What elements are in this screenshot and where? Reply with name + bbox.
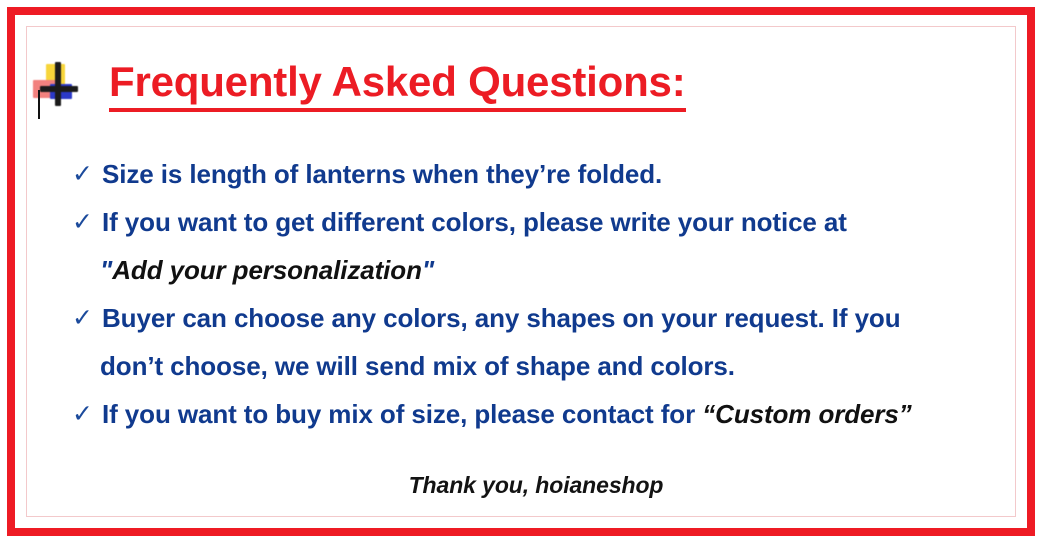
title-row: Frequently Asked Questions: (30, 55, 686, 117)
list-item: ✓ Buyer can choose any colors, any shape… (72, 294, 1017, 342)
list-item-label: don’t choose, we will send mix of shape … (100, 351, 735, 382)
quote-close: ” (899, 399, 912, 430)
footer-signature: Thank you, hoianeshop (0, 472, 1042, 499)
emphasis-text: Custom orders (715, 399, 899, 430)
list-item: ✓ If you want to get different colors, p… (72, 198, 1017, 246)
list-item-label: If you want to buy mix of size, please c… (102, 399, 695, 430)
list-item-continuation: don’t choose, we will send mix of shape … (72, 342, 1017, 390)
list-item: ✓ If you want to buy mix of size, please… (72, 390, 1017, 438)
cross-vertical-bar (55, 62, 61, 106)
cross-horizontal-bar (40, 86, 78, 92)
quote-close: " (422, 255, 434, 286)
list-item-label: Buyer can choose any colors, any shapes … (102, 303, 901, 334)
faq-slide: Frequently Asked Questions: ✓ Size is le… (0, 0, 1042, 543)
list-item-continuation: "Add your personalization" (72, 246, 1017, 294)
page-title: Frequently Asked Questions: (109, 61, 686, 112)
text-caret-icon (38, 90, 40, 119)
list-item-label: Size is length of lanterns when they’re … (102, 159, 662, 190)
check-icon: ✓ (72, 210, 102, 235)
check-icon: ✓ (72, 402, 102, 427)
list-item-label: If you want to get different colors, ple… (102, 207, 847, 238)
faq-list: ✓ Size is length of lanterns when they’r… (72, 150, 1017, 438)
check-icon: ✓ (72, 306, 102, 331)
list-item: ✓ Size is length of lanterns when they’r… (72, 150, 1017, 198)
emphasis-text: Add your personalization (112, 255, 422, 286)
quote-open: " (100, 255, 112, 286)
check-icon: ✓ (72, 162, 102, 187)
quote-open: “ (702, 399, 715, 430)
